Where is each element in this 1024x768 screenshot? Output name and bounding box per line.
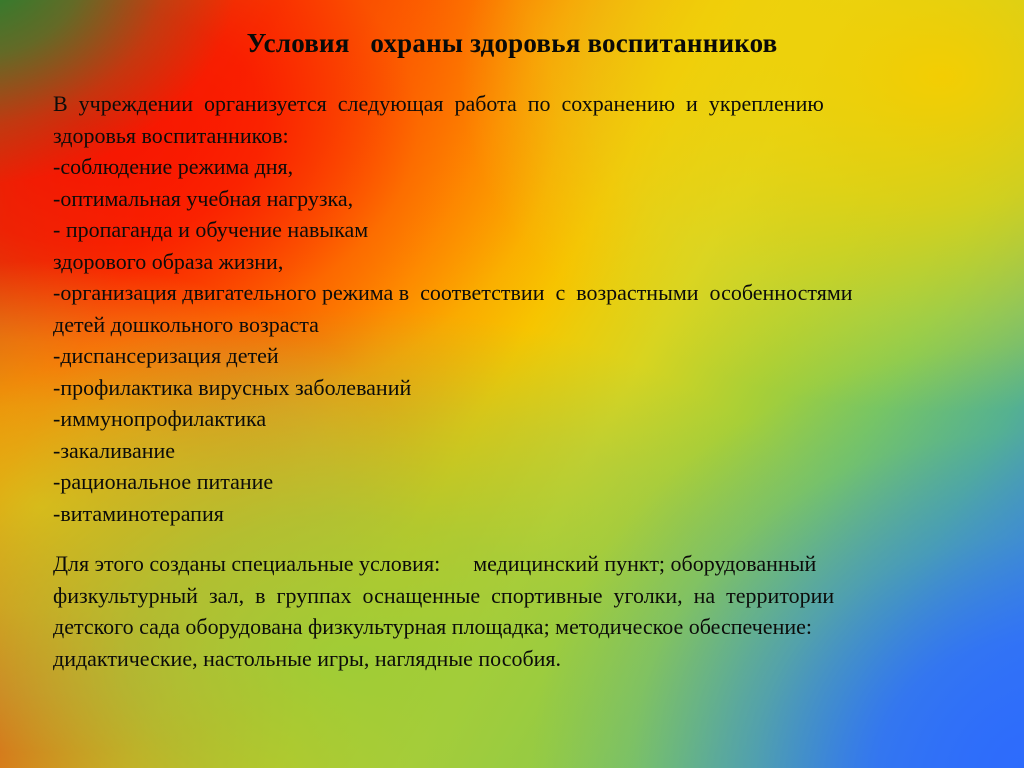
closing-line-1: Для этого созданы специальные условия: м… xyxy=(53,548,983,580)
measure-item-4-continuation: детей дошкольного возраста xyxy=(53,309,983,341)
measure-item-9: -рациональное питание xyxy=(53,466,983,498)
measure-item-5: -диспансеризация детей xyxy=(53,340,983,372)
measure-item-6: -профилактика вирусных заболеваний xyxy=(53,372,983,404)
intro-line-2: здоровья воспитанников: xyxy=(53,120,983,152)
measure-item-7: -иммунопрофилактика xyxy=(53,403,983,435)
closing-line-4: дидактические, настольные игры, наглядны… xyxy=(53,643,983,675)
measure-item-4: -организация двигательного режима в соот… xyxy=(53,277,983,309)
presentation-slide: Условия охраны здоровья воспитанников В … xyxy=(0,0,1024,768)
measure-item-3: - пропаганда и обучение навыкам xyxy=(53,214,983,246)
body-text-block: В учреждении организуется следующая рабо… xyxy=(53,88,983,529)
measure-item-8: -закаливание xyxy=(53,435,983,467)
measure-item-1: -соблюдение режима дня, xyxy=(53,151,983,183)
intro-line-1: В учреждении организуется следующая рабо… xyxy=(53,88,983,120)
closing-line-3: детского сада оборудована физкультурная … xyxy=(53,611,983,643)
closing-text-block: Для этого созданы специальные условия: м… xyxy=(53,548,983,674)
measure-item-2: -оптимальная учебная нагрузка, xyxy=(53,183,983,215)
closing-line-2: физкультурный зал, в группах оснащенные … xyxy=(53,580,983,612)
measure-item-10: -витаминотерапия xyxy=(53,498,983,530)
measure-item-3-continuation: здорового образа жизни, xyxy=(53,246,983,278)
slide-title: Условия охраны здоровья воспитанников xyxy=(0,28,1024,59)
